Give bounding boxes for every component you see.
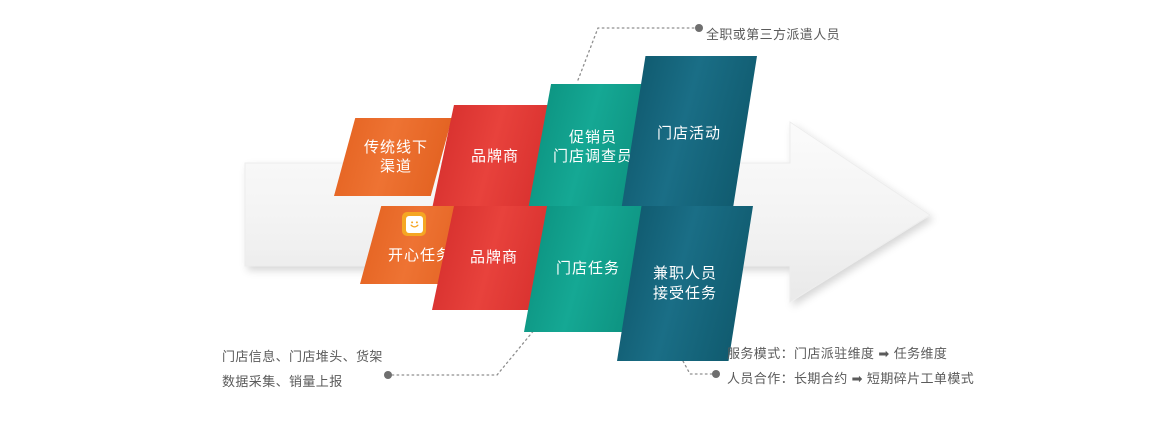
smiley-glyph [408, 218, 421, 231]
annotation-top-right: 全职或第三方派遣人员 [706, 22, 840, 47]
chevron-label: 传统线下 渠道 [340, 138, 452, 176]
chevron-label: 品牌商 [434, 248, 554, 267]
diagram-canvas: 传统线下 渠道 品牌商 促销员 门店调查员 门店活动 开心任务 品牌商 门店任务… [0, 0, 1150, 430]
chevron-label: 兼职人员 接受任务 [617, 264, 753, 302]
annotation-bottom-right: 服务模式：门店派驻维度 ➡ 任务维度 人员合作：长期合约 ➡ 短期碎片工单模式 [727, 341, 974, 392]
chevron-label: 品牌商 [436, 147, 554, 166]
smiley-face-icon [402, 212, 426, 236]
chevron-label: 门店活动 [621, 124, 757, 143]
smiley-face-inner [406, 216, 423, 233]
connector-bottom-left [384, 312, 549, 379]
annotation-bottom-left: 门店信息、门店堆头、货架 数据采集、销量上报 [222, 344, 383, 395]
